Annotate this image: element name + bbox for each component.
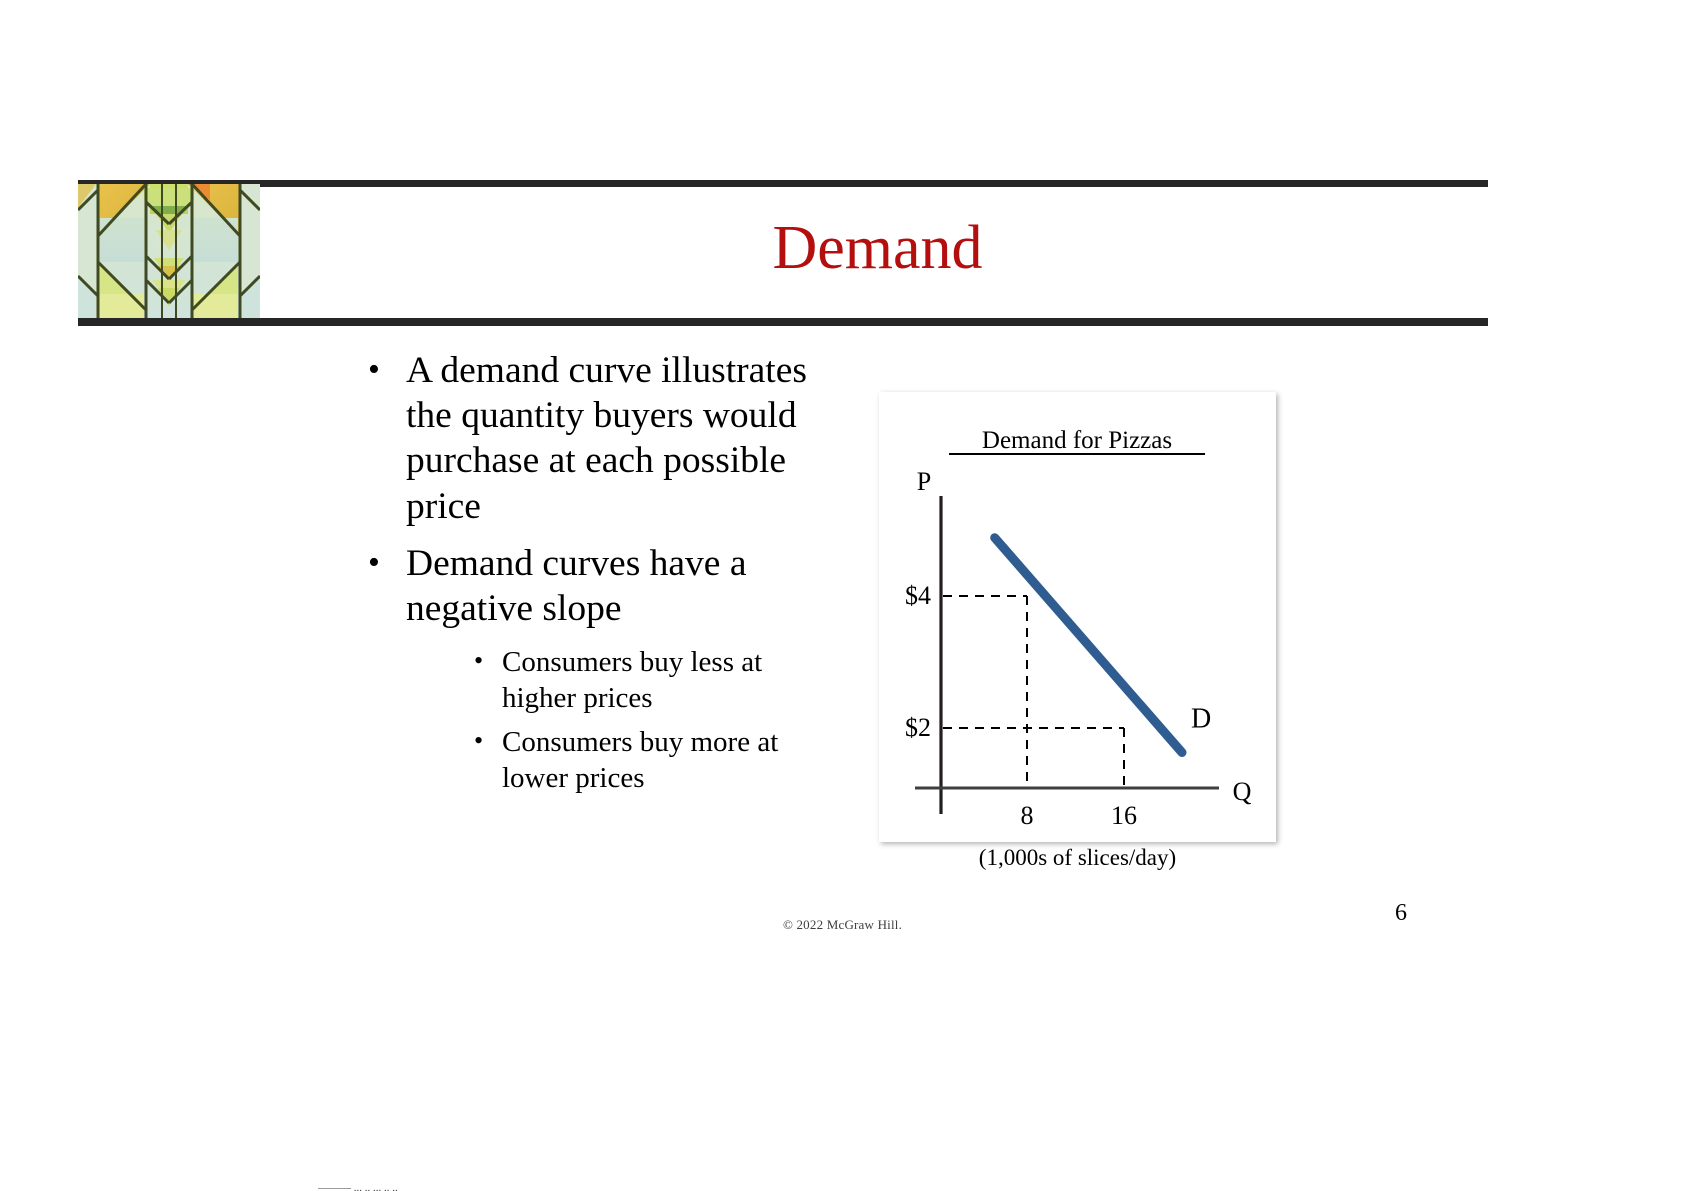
demand-chart: Demand for Pizzas P Q $4 $2 8 16 D (879, 392, 1276, 842)
sub-bullet-text: Consumers buy more at lower prices (502, 726, 778, 794)
bullet-marker-icon: • (474, 644, 483, 677)
bullet-item: • A demand curve illustrates the quantit… (360, 348, 830, 529)
slide-page-number: 6 (1379, 900, 1423, 927)
header-rule-bottom (78, 318, 1488, 326)
demand-curve-label: D (1191, 704, 1211, 735)
bottom-edge-artifact: ——— ... .. ... .. .. (318, 1182, 658, 1191)
x-tick-label-16: 16 (1111, 801, 1137, 830)
demand-chart-panel: Demand for Pizzas P Q $4 $2 8 16 D (879, 392, 1276, 842)
bullet-text: Demand curves have a negative slope (406, 543, 746, 629)
sub-bullet-text: Consumers buy less at higher prices (502, 646, 762, 714)
y-axis-label: P (917, 467, 931, 496)
chart-caption-text: (1,000s of slices/day) (979, 845, 1176, 870)
stained-glass-logo (78, 184, 260, 321)
bullet-item: • Demand curves have a negative slope • … (360, 541, 830, 797)
chart-caption-outer: (1,000s of slices/day) (879, 845, 1276, 871)
sub-bullet-item: • Consumers buy less at higher prices (472, 645, 830, 717)
x-tick-label-8: 8 (1021, 801, 1034, 830)
sub-bullet-list: • Consumers buy less at higher prices • … (406, 645, 830, 797)
bullet-marker-icon: • (368, 347, 380, 392)
copyright-notice: © 2022 McGraw Hill. (0, 917, 1685, 933)
stained-glass-logo-art (78, 184, 260, 321)
sub-bullet-item: • Consumers buy more at lower prices (472, 725, 830, 797)
chart-title: Demand for Pizzas (982, 427, 1172, 454)
x-axis-label: Q (1233, 777, 1252, 806)
bullet-list: • A demand curve illustrates the quantit… (360, 348, 830, 809)
page-title: Demand (270, 216, 1485, 281)
y-tick-label-2: $2 (905, 713, 931, 742)
header-rule-top (78, 180, 1488, 187)
y-tick-label-4: $4 (905, 581, 931, 610)
bullet-text: A demand curve illustrates the quantity … (406, 350, 807, 527)
bullet-marker-icon: • (474, 724, 483, 757)
demand-curve-line (995, 538, 1182, 753)
bullet-marker-icon: • (368, 540, 380, 585)
